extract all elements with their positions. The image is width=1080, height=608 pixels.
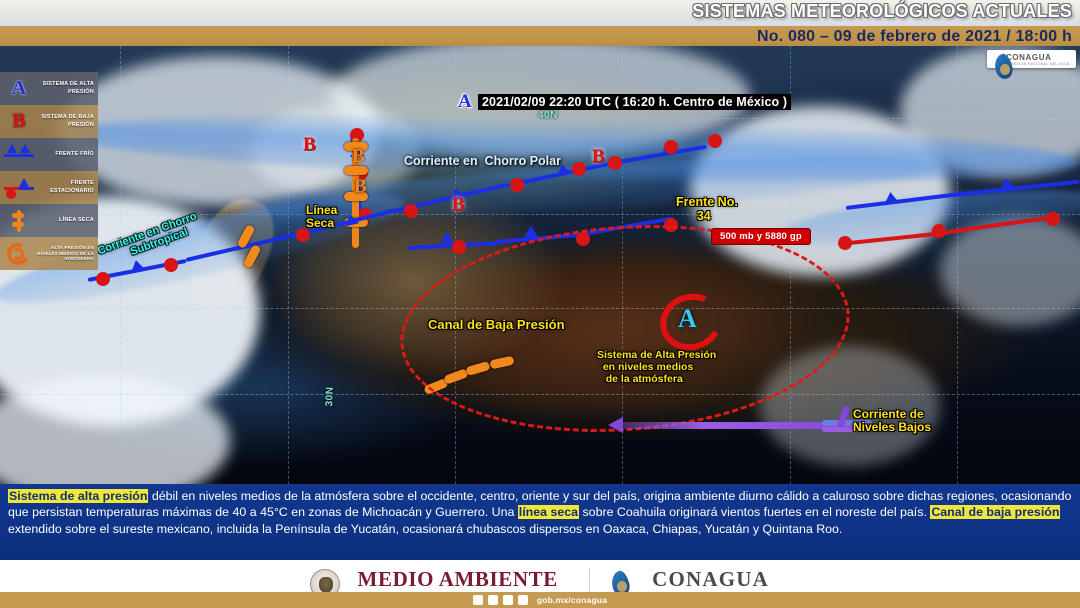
annotation-canal-baja-presion: Canal de Baja Presión — [428, 318, 565, 333]
pressure-marker-B: B — [303, 134, 316, 156]
conagua-title: CONAGUA — [652, 569, 770, 590]
legend-label: FRENTE FRÍO — [36, 151, 94, 158]
warm-front-semicircle — [932, 224, 946, 238]
page-title: SISTEMAS METEOROLÓGICOS ACTUALES — [692, 1, 1072, 22]
map-timestamp: 2021/02/09 22:20 UTC ( 16:20 h. Centro d… — [478, 94, 791, 110]
low-pressure-B-icon: B — [2, 107, 36, 137]
conagua-map-badge: CONAGUA COMISIÓN NACIONAL DEL AGUA — [987, 50, 1076, 68]
cold-front-triangle — [524, 226, 538, 237]
summary-highlight: Sistema de alta presión — [8, 489, 148, 503]
legend-item-cold-front[interactable]: FRENTE FRÍO — [0, 138, 98, 171]
warm-front-semicircle — [96, 272, 110, 286]
gridline-label: 30N — [324, 386, 336, 406]
water-drop-icon — [991, 52, 1003, 66]
legend-label: FRENTE ESTACIONARIO — [36, 180, 94, 195]
warm-front-semicircle — [404, 204, 418, 218]
legend-label: ALTA PRESIÓN EN NIVELES MEDIOS DE LA ATM… — [36, 245, 94, 262]
cold-front-triangle — [999, 177, 1014, 189]
mid-level-high-icon — [2, 239, 36, 269]
instagram-icon[interactable] — [503, 595, 513, 605]
high-pressure-A-icon: A — [2, 74, 36, 104]
legend-item-low-pressure[interactable]: B SISTEMA DE BAJA PRESIÓN — [0, 105, 98, 138]
gridline-label: 40N — [538, 110, 558, 121]
summary-paragraph: Sistema de alta presión débil en niveles… — [8, 488, 1072, 537]
header-bar: SISTEMAS METEOROLÓGICOS ACTUALES — [0, 0, 1080, 26]
cold-front-triangle — [883, 191, 898, 204]
annotation-sistema-alta-presion: Sistema de Alta Presión en niveles medio… — [597, 350, 716, 385]
stationary-front-icon — [2, 173, 36, 203]
summary-highlight: línea seca — [518, 505, 579, 519]
summary-text: sobre Coahuila originará vientos fuertes… — [579, 505, 930, 519]
cold-front-triangle — [440, 232, 454, 243]
twitter-icon[interactable] — [488, 595, 498, 605]
longitude-gridline — [455, 46, 456, 484]
low-level-jet-arrowhead — [608, 417, 623, 433]
legend-label: LÍNEA SECA — [36, 217, 94, 224]
longitude-gridline — [288, 46, 289, 484]
legend-item-dry-line[interactable]: LÍNEA SECA — [0, 204, 98, 237]
pressure-marker-B: B — [592, 146, 605, 168]
conagua-badge-sub: COMISIÓN NACIONAL DEL AGUA — [1006, 62, 1070, 66]
summary-text: extendido sobre el sureste mexicano, inc… — [8, 522, 842, 536]
warm-front-semicircle — [1046, 212, 1060, 226]
satellite-map[interactable]: 40N 30N — [0, 46, 1080, 484]
legend-item-high-pressure[interactable]: A SISTEMA DE ALTA PRESIÓN — [0, 72, 98, 105]
longitude-gridline — [957, 46, 958, 484]
legend-panel: A SISTEMA DE ALTA PRESIÓN B SISTEMA DE B… — [0, 72, 98, 270]
cold-front-icon — [2, 140, 36, 170]
pressure-marker-B: B — [352, 146, 365, 168]
warm-front-semicircle — [452, 240, 466, 254]
bulletin-number-date: No. 080 – 09 de febrero de 2021 / 18:00 … — [757, 28, 1072, 46]
annotation-corriente-niveles-bajos: Corriente de Niveles Bajos — [853, 408, 931, 435]
youtube-icon[interactable] — [518, 595, 528, 605]
warm-front-semicircle — [838, 236, 852, 250]
summary-highlight: Canal de baja presión — [930, 505, 1060, 519]
weather-bulletin: SISTEMAS METEOROLÓGICOS ACTUALES No. 080… — [0, 0, 1080, 608]
warm-front-semicircle — [510, 178, 524, 192]
annotation-linea-seca: Línea Seca — [306, 204, 337, 231]
warm-front-semicircle — [572, 162, 586, 176]
warm-front-semicircle — [664, 140, 678, 154]
legend-label: SISTEMA DE BAJA PRESIÓN — [36, 114, 94, 129]
summary-text-panel: Sistema de alta presión débil en niveles… — [0, 484, 1080, 560]
warm-front-semicircle — [708, 134, 722, 148]
high-pressure-letter-A: A — [678, 304, 697, 334]
facebook-icon[interactable] — [473, 595, 483, 605]
pressure-marker-B: B — [354, 176, 367, 198]
annotation-frente-34: Frente No. 34 — [676, 195, 738, 223]
footer-social-strip: gob.mx/conagua — [0, 592, 1080, 608]
legend-item-mid-level-high[interactable]: ALTA PRESIÓN EN NIVELES MEDIOS DE LA ATM… — [0, 237, 98, 270]
pressure-level-label: 500 mb y 5880 gp — [712, 229, 810, 244]
conagua-badge-title: CONAGUA — [1006, 53, 1070, 62]
annotation-polar-jet: Corriente en Chorro Polar — [404, 154, 561, 168]
warm-front-semicircle — [164, 258, 178, 272]
pressure-marker-A: A — [458, 91, 472, 113]
website-url[interactable]: gob.mx/conagua — [537, 595, 607, 605]
warm-front-semicircle — [608, 156, 622, 170]
legend-label: SISTEMA DE ALTA PRESIÓN — [36, 81, 94, 96]
legend-item-stationary-front[interactable]: FRENTE ESTACIONARIO — [0, 171, 98, 204]
pressure-marker-B: B — [452, 194, 465, 216]
dry-line-icon — [2, 206, 36, 236]
medio-ambiente-title: MEDIO AMBIENTE — [358, 569, 572, 590]
